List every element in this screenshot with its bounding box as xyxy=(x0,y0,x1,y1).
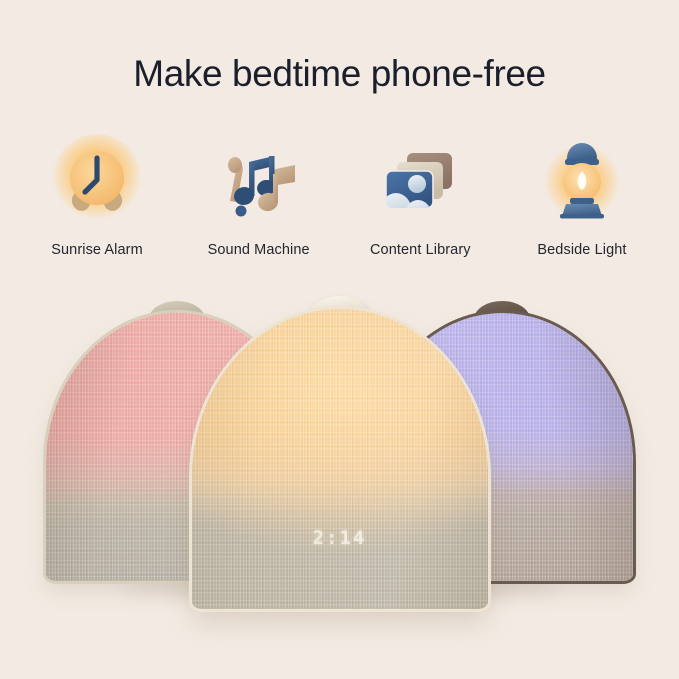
feature-label: Sound Machine xyxy=(208,242,310,258)
lantern-lamp-icon xyxy=(534,134,630,230)
feature-label: Sunrise Alarm xyxy=(51,242,143,258)
sunrise-clock-amber[interactable]: 2:14 xyxy=(192,309,488,609)
feature-bedside-light[interactable]: Bedside Light xyxy=(507,134,657,258)
promo-page: Make bedtime phone-free xyxy=(0,0,679,679)
feature-content-library[interactable]: Content Library xyxy=(345,134,495,258)
page-title: Make bedtime phone-free xyxy=(0,52,679,96)
product-photo: 2:14 xyxy=(0,292,679,679)
stacked-cards-icon xyxy=(372,134,468,230)
feature-label: Bedside Light xyxy=(537,242,626,258)
music-notes-icon xyxy=(211,134,307,230)
feature-sunrise-alarm[interactable]: Sunrise Alarm xyxy=(22,134,172,258)
sunrise-alarm-clock-icon xyxy=(49,134,145,230)
feature-sound-machine[interactable]: Sound Machine xyxy=(184,134,334,258)
feature-label: Content Library xyxy=(370,242,471,258)
feature-list: Sunrise Alarm xyxy=(0,134,679,258)
